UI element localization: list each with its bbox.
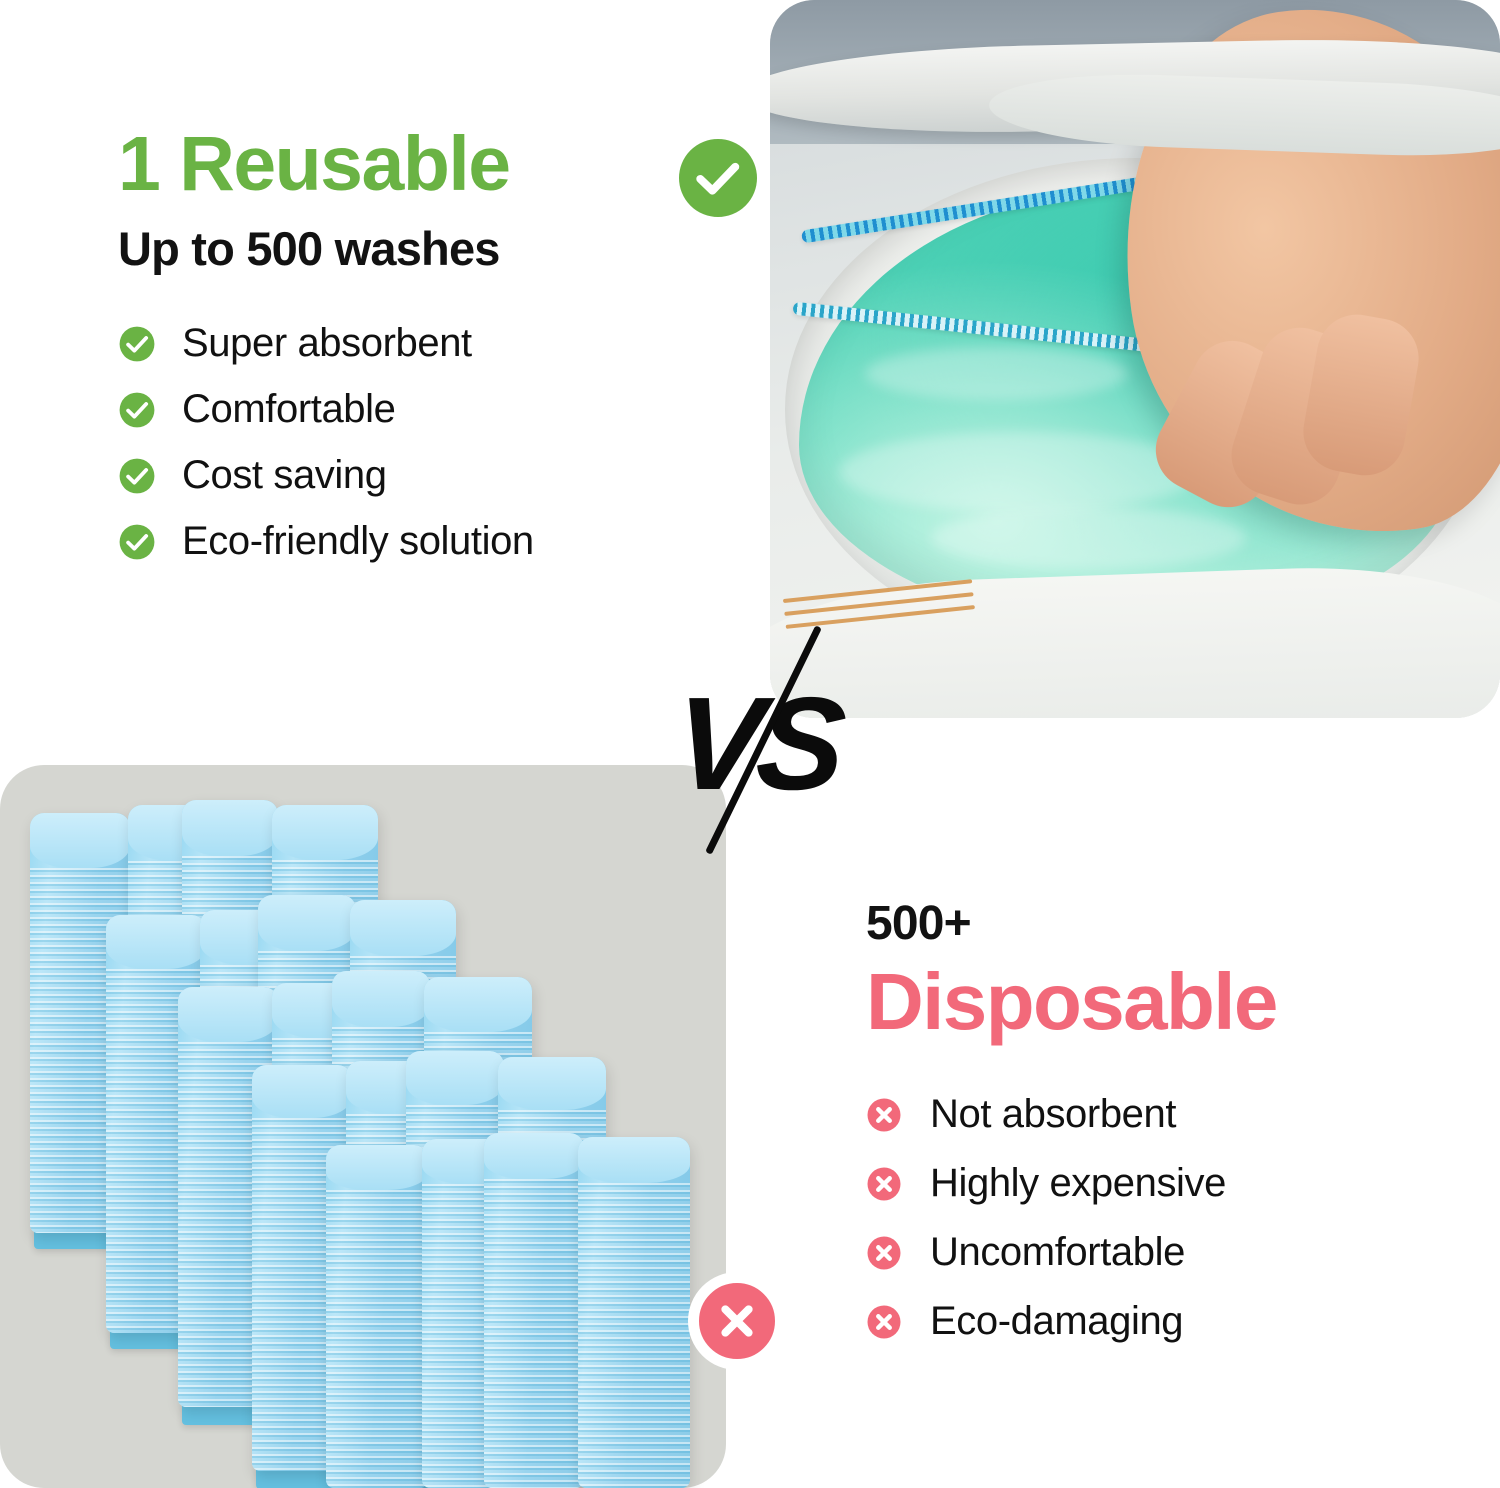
disposable-heading: Disposable [866,962,1426,1042]
pad-stack [326,1145,428,1488]
feature-label: Cost saving [182,453,387,498]
reusable-feature-list: Super absorbent Comfortable [118,311,698,575]
pad-stack-group [0,765,726,1488]
x-circle-icon [866,1304,902,1340]
feature-label: Comfortable [182,387,395,432]
disposable-info-block: 500+ Disposable Not absorbent [866,900,1426,1356]
feature-item-eco-damaging: Eco-damaging [866,1287,1426,1356]
vs-divider: VS [660,596,860,866]
feature-item-super-absorbent: Super absorbent [118,311,698,377]
check-circle-icon [118,457,156,495]
comparison-infographic: VS 1 Reusable Up to 500 washes Super abs… [0,0,1500,1488]
feature-label: Highly expensive [930,1161,1226,1206]
pad-stack [484,1133,584,1488]
reusable-heading: 1 Reusable [118,126,698,203]
feature-item-not-absorbent: Not absorbent [866,1080,1426,1149]
feature-label: Eco-friendly solution [182,519,534,564]
feature-item-eco-friendly-solution: Eco-friendly solution [118,509,698,575]
reusable-info-block: 1 Reusable Up to 500 washes Super absorb… [118,126,698,575]
check-circle-icon [118,391,156,429]
x-circle-icon [866,1166,902,1202]
disposable-feature-list: Not absorbent Highly expensive [866,1080,1426,1356]
check-circle-icon [118,523,156,561]
pad-stack [578,1137,690,1488]
disposable-product-photo [0,765,726,1488]
feature-item-comfortable: Comfortable [118,377,698,443]
feature-item-uncomfortable: Uncomfortable [866,1218,1426,1287]
disposable-count: 500+ [866,900,1426,948]
reusable-product-photo [770,0,1500,718]
feature-label: Uncomfortable [930,1230,1185,1275]
feature-label: Eco-damaging [930,1299,1183,1344]
feature-item-highly-expensive: Highly expensive [866,1149,1426,1218]
feature-label: Super absorbent [182,321,472,366]
x-circle-icon [866,1097,902,1133]
reusable-subheading: Up to 500 washes [118,223,698,275]
feature-item-cost-saving: Cost saving [118,443,698,509]
x-circle-icon [688,1272,786,1370]
x-circle-icon [866,1235,902,1271]
feature-label: Not absorbent [930,1092,1176,1137]
check-circle-icon [118,325,156,363]
